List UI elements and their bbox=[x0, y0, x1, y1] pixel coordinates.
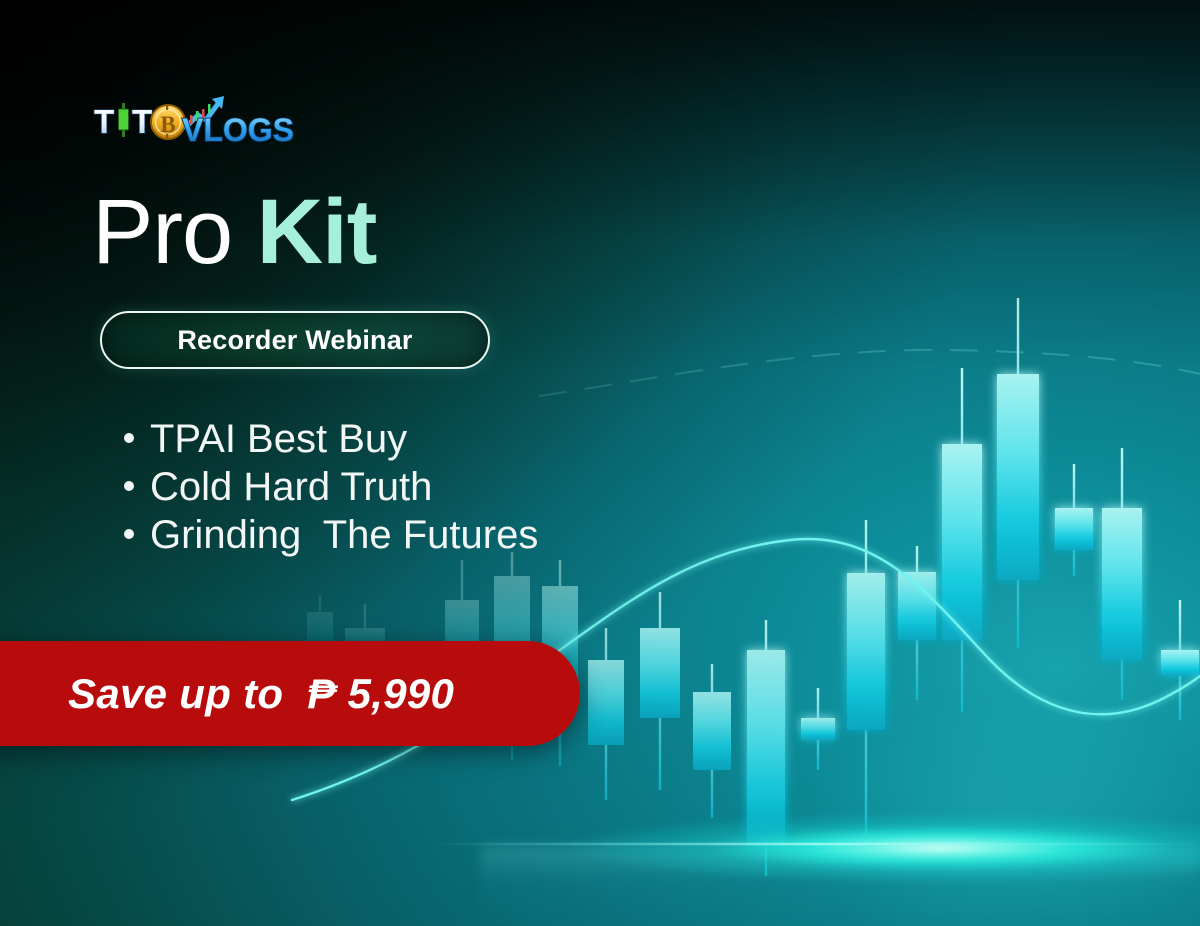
list-item-label: Grinding The Futures bbox=[150, 511, 538, 559]
brand-logo[interactable]: T T B VLOGS TITO VLOGS bbox=[90, 90, 298, 148]
promo-save-text: Save up to ₱ 5,990 bbox=[68, 670, 454, 718]
webinar-badge-label: Recorder Webinar bbox=[177, 325, 412, 356]
page-title: Pro Kit bbox=[92, 186, 376, 278]
list-item-label: TPAI Best Buy bbox=[150, 415, 407, 463]
bullet-dot-icon bbox=[124, 481, 134, 491]
promo-save-banner[interactable]: Save up to ₱ 5,990 bbox=[0, 641, 580, 746]
list-item: Grinding The Futures bbox=[124, 511, 538, 559]
list-item: Cold Hard Truth bbox=[124, 463, 538, 511]
list-item: TPAI Best Buy bbox=[124, 415, 538, 463]
feature-list: TPAI Best Buy Cold Hard Truth Grinding T… bbox=[124, 415, 538, 559]
promo-banner: T T B VLOGS TITO VLOGS Pro Kit Recorder … bbox=[0, 0, 1200, 926]
list-item-label: Cold Hard Truth bbox=[150, 463, 432, 511]
svg-text:T: T bbox=[132, 103, 153, 140]
svg-text:T: T bbox=[94, 103, 115, 140]
webinar-badge[interactable]: Recorder Webinar bbox=[100, 311, 490, 369]
bullet-dot-icon bbox=[124, 433, 134, 443]
svg-text:B: B bbox=[160, 112, 175, 137]
title-word-pro: Pro bbox=[92, 181, 232, 283]
bullet-dot-icon bbox=[124, 529, 134, 539]
tito-vlogs-logo-icon: T T B VLOGS bbox=[90, 89, 298, 149]
svg-text:VLOGS: VLOGS bbox=[182, 112, 294, 148]
title-word-kit: Kit bbox=[257, 181, 377, 283]
